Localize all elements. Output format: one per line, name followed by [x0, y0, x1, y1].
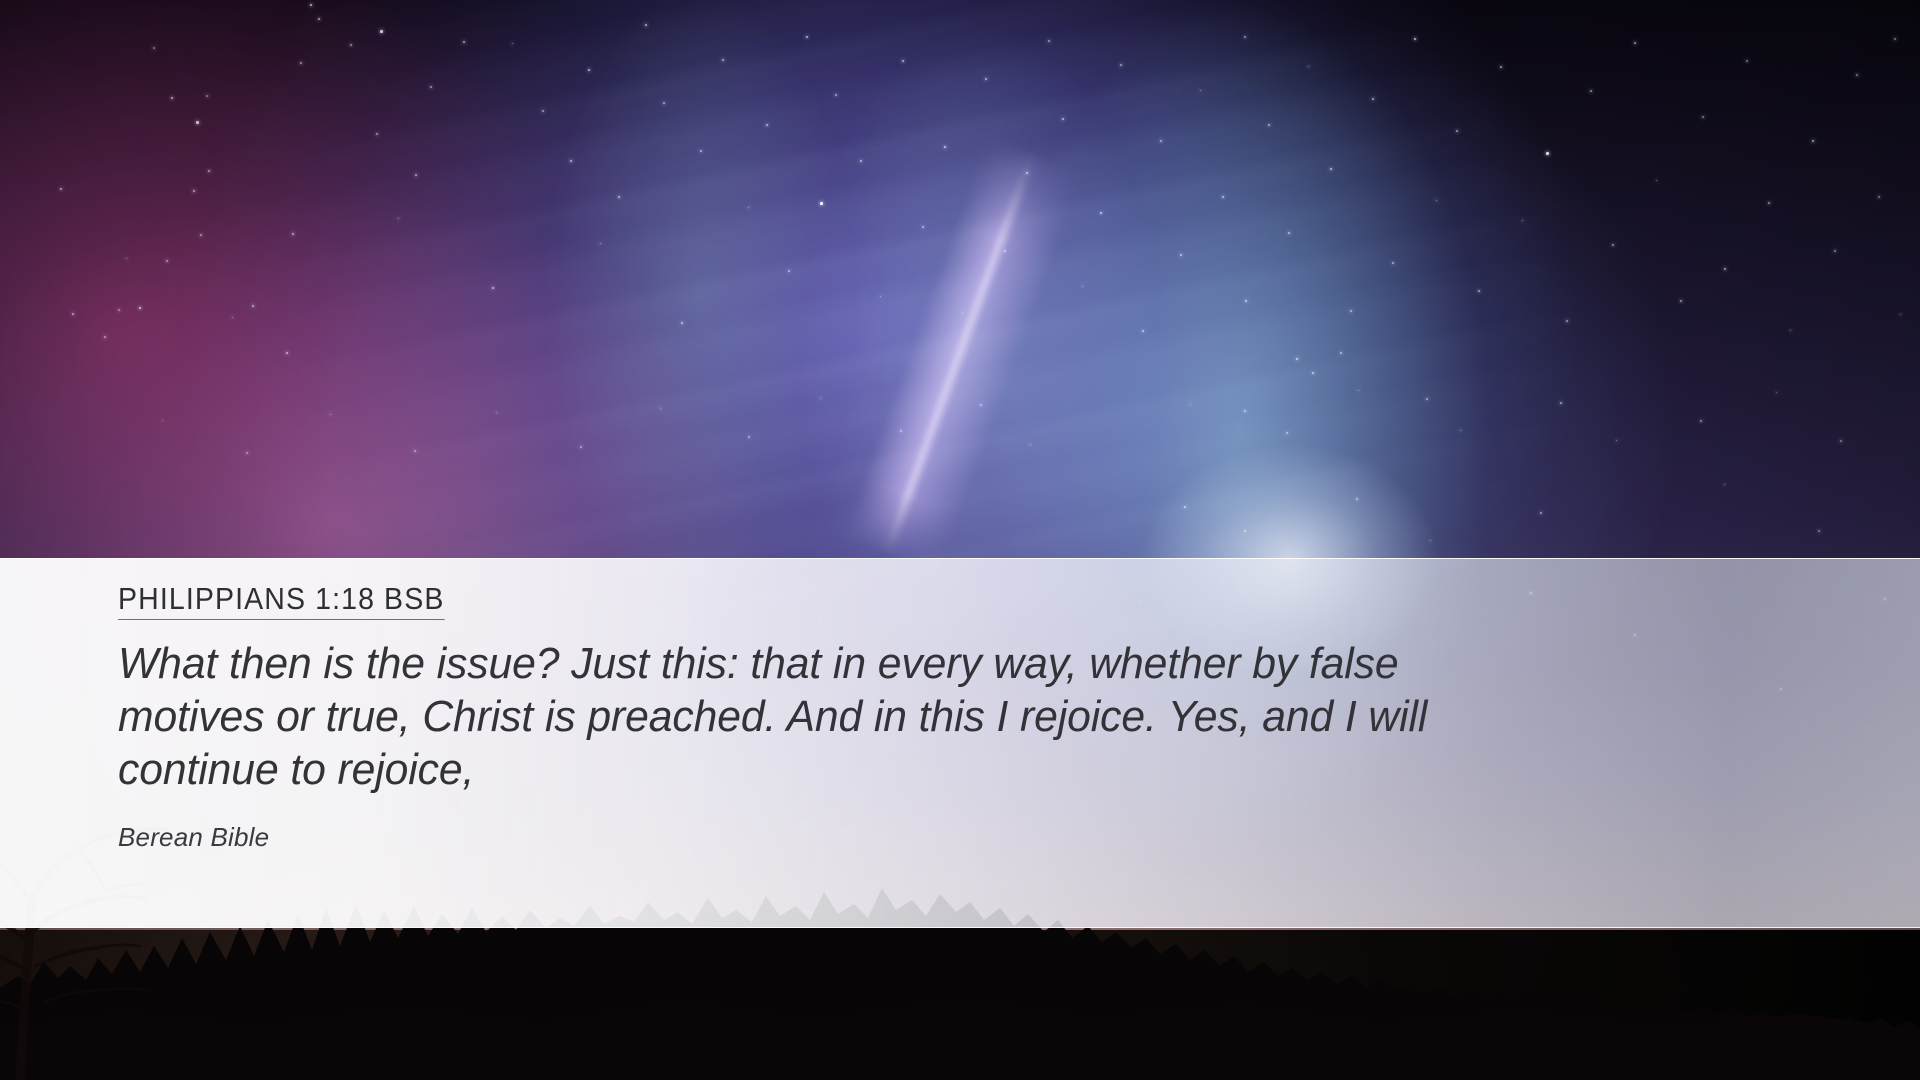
star [1746, 60, 1748, 62]
star [980, 404, 982, 406]
star [104, 336, 106, 338]
star [118, 309, 120, 311]
star [944, 146, 946, 148]
star [600, 243, 601, 244]
star [300, 62, 302, 64]
star [1160, 140, 1162, 142]
star [1244, 410, 1246, 412]
star [232, 317, 233, 318]
star [1184, 506, 1186, 508]
star [1878, 196, 1880, 198]
star [1312, 372, 1314, 374]
star [902, 60, 904, 62]
star [985, 78, 987, 80]
star [748, 207, 749, 208]
star [1222, 196, 1224, 198]
star [1286, 432, 1288, 434]
verse-content: PHILIPPIANS 1:18 BSB What then is the is… [118, 582, 1798, 853]
star [1288, 232, 1290, 234]
star [1048, 40, 1050, 42]
star [1426, 398, 1428, 400]
star [1030, 444, 1031, 445]
star [618, 196, 620, 198]
foreground-ground [0, 930, 1920, 1080]
star [162, 420, 163, 421]
star [252, 305, 254, 307]
star [153, 47, 155, 49]
star [1566, 320, 1568, 322]
star [660, 408, 661, 409]
star [1560, 402, 1562, 404]
star [496, 412, 497, 413]
star [1900, 314, 1901, 315]
star [766, 124, 768, 126]
star [1340, 352, 1342, 354]
star [1812, 140, 1814, 142]
star [820, 202, 823, 205]
star [860, 160, 862, 162]
star [1142, 330, 1144, 332]
verse-source-attribution: Berean Bible [118, 822, 1798, 853]
star [1200, 90, 1201, 91]
star [376, 133, 378, 135]
star [415, 174, 417, 176]
star [200, 234, 202, 236]
star [880, 296, 881, 297]
star [1356, 498, 1358, 500]
star [1180, 254, 1182, 256]
star [580, 446, 582, 448]
star [208, 170, 210, 172]
star [193, 190, 195, 192]
star [1478, 290, 1480, 292]
star [1656, 180, 1657, 181]
star [1330, 168, 1332, 170]
star [414, 450, 416, 452]
star [922, 226, 924, 228]
star [463, 41, 465, 43]
star [1358, 390, 1359, 391]
star [806, 36, 808, 38]
star [1100, 212, 1102, 214]
star [1414, 38, 1416, 40]
star [1634, 42, 1636, 44]
star [1700, 420, 1702, 422]
star [1372, 98, 1374, 100]
star [139, 307, 141, 309]
star [835, 94, 837, 96]
star [1768, 202, 1770, 204]
star [1082, 286, 1083, 287]
star [722, 59, 724, 61]
wallpaper-canvas: PHILIPPIANS 1:18 BSB What then is the is… [0, 0, 1920, 1080]
star [1245, 300, 1247, 302]
star [196, 121, 199, 124]
verse-text: What then is the issue? Just this: that … [118, 637, 1515, 796]
star [1244, 530, 1246, 532]
star [588, 69, 590, 71]
star [330, 414, 331, 415]
star [748, 436, 750, 438]
star [380, 30, 383, 33]
star [820, 398, 821, 399]
star [1818, 530, 1820, 532]
star [1616, 440, 1617, 441]
star [1460, 430, 1461, 431]
star [512, 43, 513, 44]
star [645, 24, 647, 26]
star [166, 260, 168, 262]
star [1456, 130, 1458, 132]
star [1268, 124, 1270, 126]
star [1680, 300, 1682, 302]
star [492, 287, 494, 289]
star [1540, 512, 1542, 514]
star [1004, 250, 1006, 252]
star [310, 4, 312, 6]
star [1546, 152, 1549, 155]
star [788, 270, 790, 272]
star [1776, 392, 1777, 393]
star [1790, 330, 1791, 331]
star [1724, 484, 1725, 485]
star [318, 18, 320, 20]
star [663, 102, 665, 104]
star [1500, 66, 1502, 68]
star [292, 233, 294, 235]
star [398, 218, 399, 219]
star [1392, 262, 1394, 264]
star [1296, 358, 1298, 360]
star [246, 452, 248, 454]
star [1436, 200, 1437, 201]
star [171, 97, 173, 99]
star [1062, 118, 1064, 120]
star [1590, 90, 1592, 92]
star [60, 188, 62, 190]
star [286, 352, 288, 354]
star [1834, 250, 1836, 252]
star [1026, 172, 1028, 174]
star [1350, 310, 1352, 312]
star [700, 150, 702, 152]
star [1702, 116, 1704, 118]
star [430, 86, 432, 88]
star [350, 44, 352, 46]
star [1120, 64, 1122, 66]
star [962, 312, 963, 313]
star [570, 160, 572, 162]
star [1308, 66, 1309, 67]
star [900, 430, 902, 432]
star [1724, 268, 1726, 270]
aurora-light-beam [742, 99, 1171, 606]
star [1430, 540, 1431, 541]
verse-reference: PHILIPPIANS 1:18 BSB [118, 582, 444, 620]
star [1856, 74, 1858, 76]
star [1894, 38, 1896, 40]
star [542, 110, 544, 112]
star [206, 95, 208, 97]
star [1612, 244, 1614, 246]
star [1190, 404, 1191, 405]
star [126, 258, 127, 259]
star [1840, 440, 1842, 442]
star [72, 313, 74, 315]
star [1244, 36, 1246, 38]
star [1522, 220, 1523, 221]
star [681, 322, 683, 324]
